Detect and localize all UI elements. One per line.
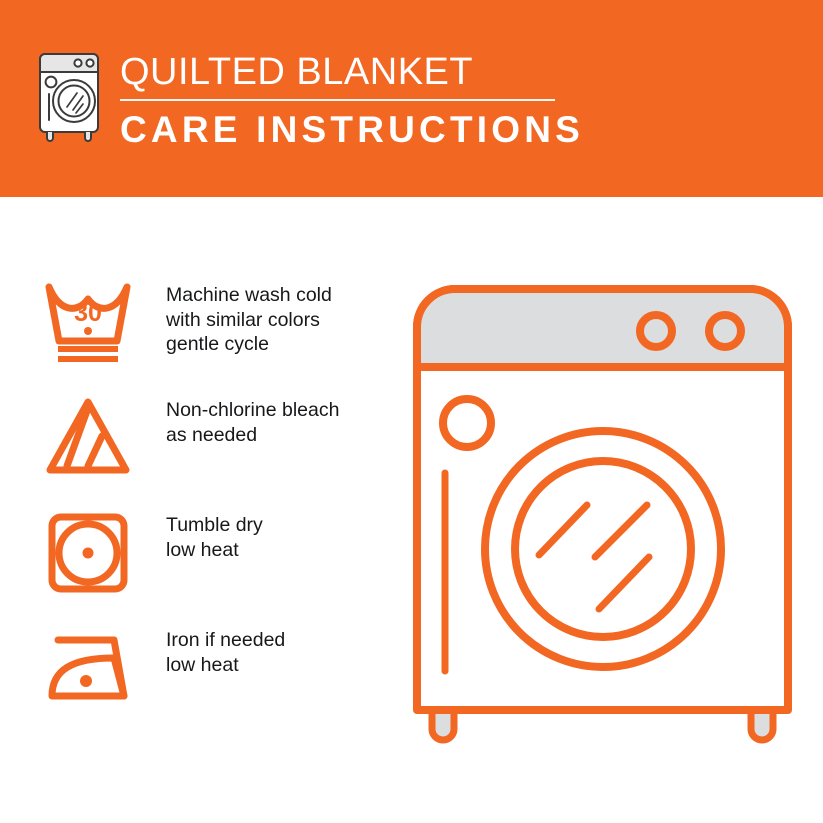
- care-item-text: Iron if needed low heat: [166, 622, 285, 677]
- care-text-line: low heat: [166, 538, 263, 563]
- care-instruction-list: 30 Machine wash cold with similar colors…: [38, 277, 388, 737]
- care-text-line: Machine wash cold: [166, 283, 332, 308]
- page-content: 30 Machine wash cold with similar colors…: [0, 197, 823, 823]
- care-text-line: gentle cycle: [166, 332, 332, 357]
- care-item-machine-wash: 30 Machine wash cold with similar colors…: [38, 277, 388, 392]
- front-load-washing-machine-illustration: [405, 277, 800, 752]
- care-item-text: Machine wash cold with similar colors ge…: [166, 277, 332, 357]
- page-subtitle: CARE INSTRUCTIONS: [120, 109, 584, 151]
- non-chlorine-bleach-symbol: [38, 392, 138, 482]
- care-text-line: with similar colors: [166, 308, 332, 333]
- indicator-light: [443, 399, 491, 447]
- care-item-text: Tumble dry low heat: [166, 507, 263, 562]
- knob-left: [640, 315, 672, 347]
- washing-machine-logo-icon: [34, 48, 106, 144]
- header-content: QUILTED BLANKET CARE INSTRUCTIONS: [34, 48, 584, 151]
- iron-low-heat-symbol: [38, 622, 138, 712]
- care-item-text: Non-chlorine bleach as needed: [166, 392, 339, 447]
- tumble-dry-low-symbol: [38, 507, 138, 597]
- header-title-block: QUILTED BLANKET CARE INSTRUCTIONS: [120, 48, 584, 151]
- machine-wash-cold-symbol: 30: [38, 277, 138, 367]
- care-item-iron: Iron if needed low heat: [38, 622, 388, 737]
- title-divider: [120, 99, 555, 101]
- page-header: QUILTED BLANKET CARE INSTRUCTIONS: [0, 0, 823, 197]
- care-text-line: as needed: [166, 423, 339, 448]
- care-item-bleach: Non-chlorine bleach as needed: [38, 392, 388, 507]
- care-text-line: Iron if needed: [166, 628, 285, 653]
- care-text-line: Tumble dry: [166, 513, 263, 538]
- care-item-tumble-dry: Tumble dry low heat: [38, 507, 388, 622]
- care-text-line: low heat: [166, 653, 285, 678]
- knob-right: [709, 315, 741, 347]
- page-title: QUILTED BLANKET: [120, 50, 584, 94]
- wash-temperature-label: 30: [74, 299, 102, 327]
- care-text-line: Non-chlorine bleach: [166, 398, 339, 423]
